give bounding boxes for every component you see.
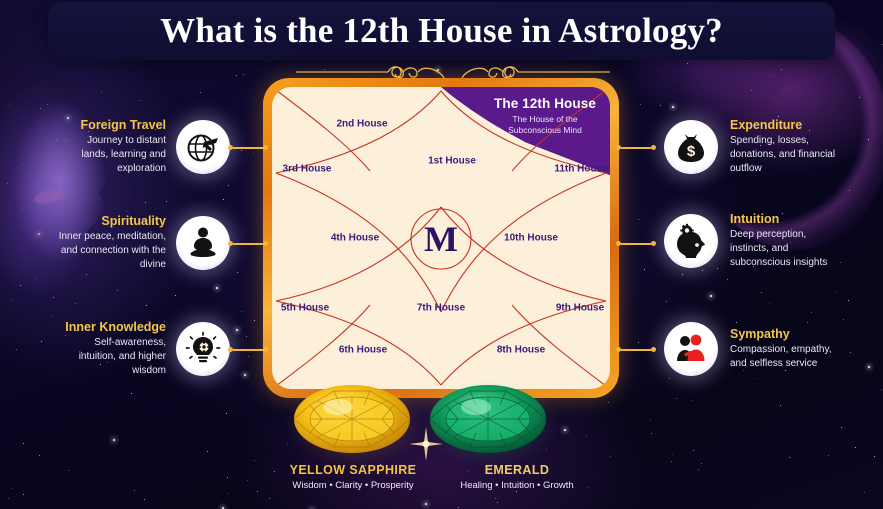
feature-expenditure[interactable]: $ Expenditure Spending, losses, donation… [664, 118, 844, 177]
house-label-10: 10th House [504, 233, 558, 244]
feature-sympathy[interactable]: Sympathy Compassion, empathy, and selfle… [664, 322, 844, 376]
feature-title: Spirituality [58, 214, 166, 228]
head-gear-icon [664, 214, 718, 268]
connector-left-2 [228, 241, 268, 246]
feature-desc: Deep perception, instincts, and subconsc… [730, 228, 844, 271]
gem-traits: Wisdom • Clarity • Prosperity [268, 480, 438, 491]
connector-right-1 [616, 145, 656, 150]
money-bag-icon: $ [664, 120, 718, 174]
emerald-gem [428, 383, 548, 455]
title-bar: What is the 12th House in Astrology? [48, 2, 835, 60]
page-title: What is the 12th House in Astrology? [160, 11, 723, 51]
house-label-6: 6th House [339, 345, 387, 356]
gem-name: YELLOW SAPPHIRE [268, 463, 438, 477]
house-label-11: 11th House [554, 164, 607, 175]
feature-title: Inner Knowledge [58, 320, 166, 334]
feature-title: Foreign Travel [58, 118, 166, 132]
house-label-2: 2nd House [336, 119, 387, 130]
feature-spirituality[interactable]: Spirituality Inner peace, meditation, an… [58, 214, 230, 273]
sparkle-icon [409, 427, 443, 461]
yellow-sapphire-gem [292, 383, 412, 455]
feature-desc: Journey to distant lands, learning and e… [58, 134, 166, 177]
two-people-icon [664, 322, 718, 376]
feature-desc: Spending, losses, donations, and financi… [730, 134, 844, 177]
feature-title: Intuition [730, 212, 844, 226]
feature-foreign-travel[interactable]: Foreign Travel Journey to distant lands,… [58, 118, 230, 177]
svg-text:$: $ [687, 143, 696, 160]
connector-left-1 [228, 145, 268, 150]
chart-monogram: M [424, 221, 458, 257]
gemstone-section: YELLOW SAPPHIRE Wisdom • Clarity • Prosp… [270, 383, 610, 507]
house-label-7: 7th House [417, 303, 465, 314]
sapphire-caption: YELLOW SAPPHIRE Wisdom • Clarity • Prosp… [268, 463, 438, 491]
feature-desc: Compassion, empathy, and selfless servic… [730, 343, 844, 371]
house-label-4: 4th House [331, 233, 379, 244]
feature-inner-knowledge[interactable]: Inner Knowledge Self-awareness, intuitio… [58, 320, 230, 379]
house-label-5: 5th House [281, 303, 329, 314]
house-label-9: 9th House [556, 303, 604, 314]
house-label-8: 8th House [497, 345, 545, 356]
feature-intuition[interactable]: Intuition Deep perception, instincts, an… [664, 212, 844, 271]
emerald-caption: EMERALD Healing • Intuition • Growth [432, 463, 602, 491]
gem-name: EMERALD [432, 463, 602, 477]
feature-title: Expenditure [730, 118, 844, 132]
feature-title: Sympathy [730, 327, 844, 341]
feature-desc: Self-awareness, intuition, and higher wi… [58, 336, 166, 379]
infographic-root: What is the 12th House in Astrology? [0, 0, 883, 509]
gem-traits: Healing • Intuition • Growth [432, 480, 602, 491]
globe-airplane-icon [176, 120, 230, 174]
connector-left-3 [228, 347, 268, 352]
connector-right-3 [616, 347, 656, 352]
meditation-icon [176, 216, 230, 270]
house-label-3: 3rd House [283, 164, 332, 175]
feature-desc: Inner peace, meditation, and connection … [58, 230, 166, 273]
lightbulb-gear-icon [176, 322, 230, 376]
house-label-1: 1st House [428, 156, 476, 167]
connector-right-2 [616, 241, 656, 246]
